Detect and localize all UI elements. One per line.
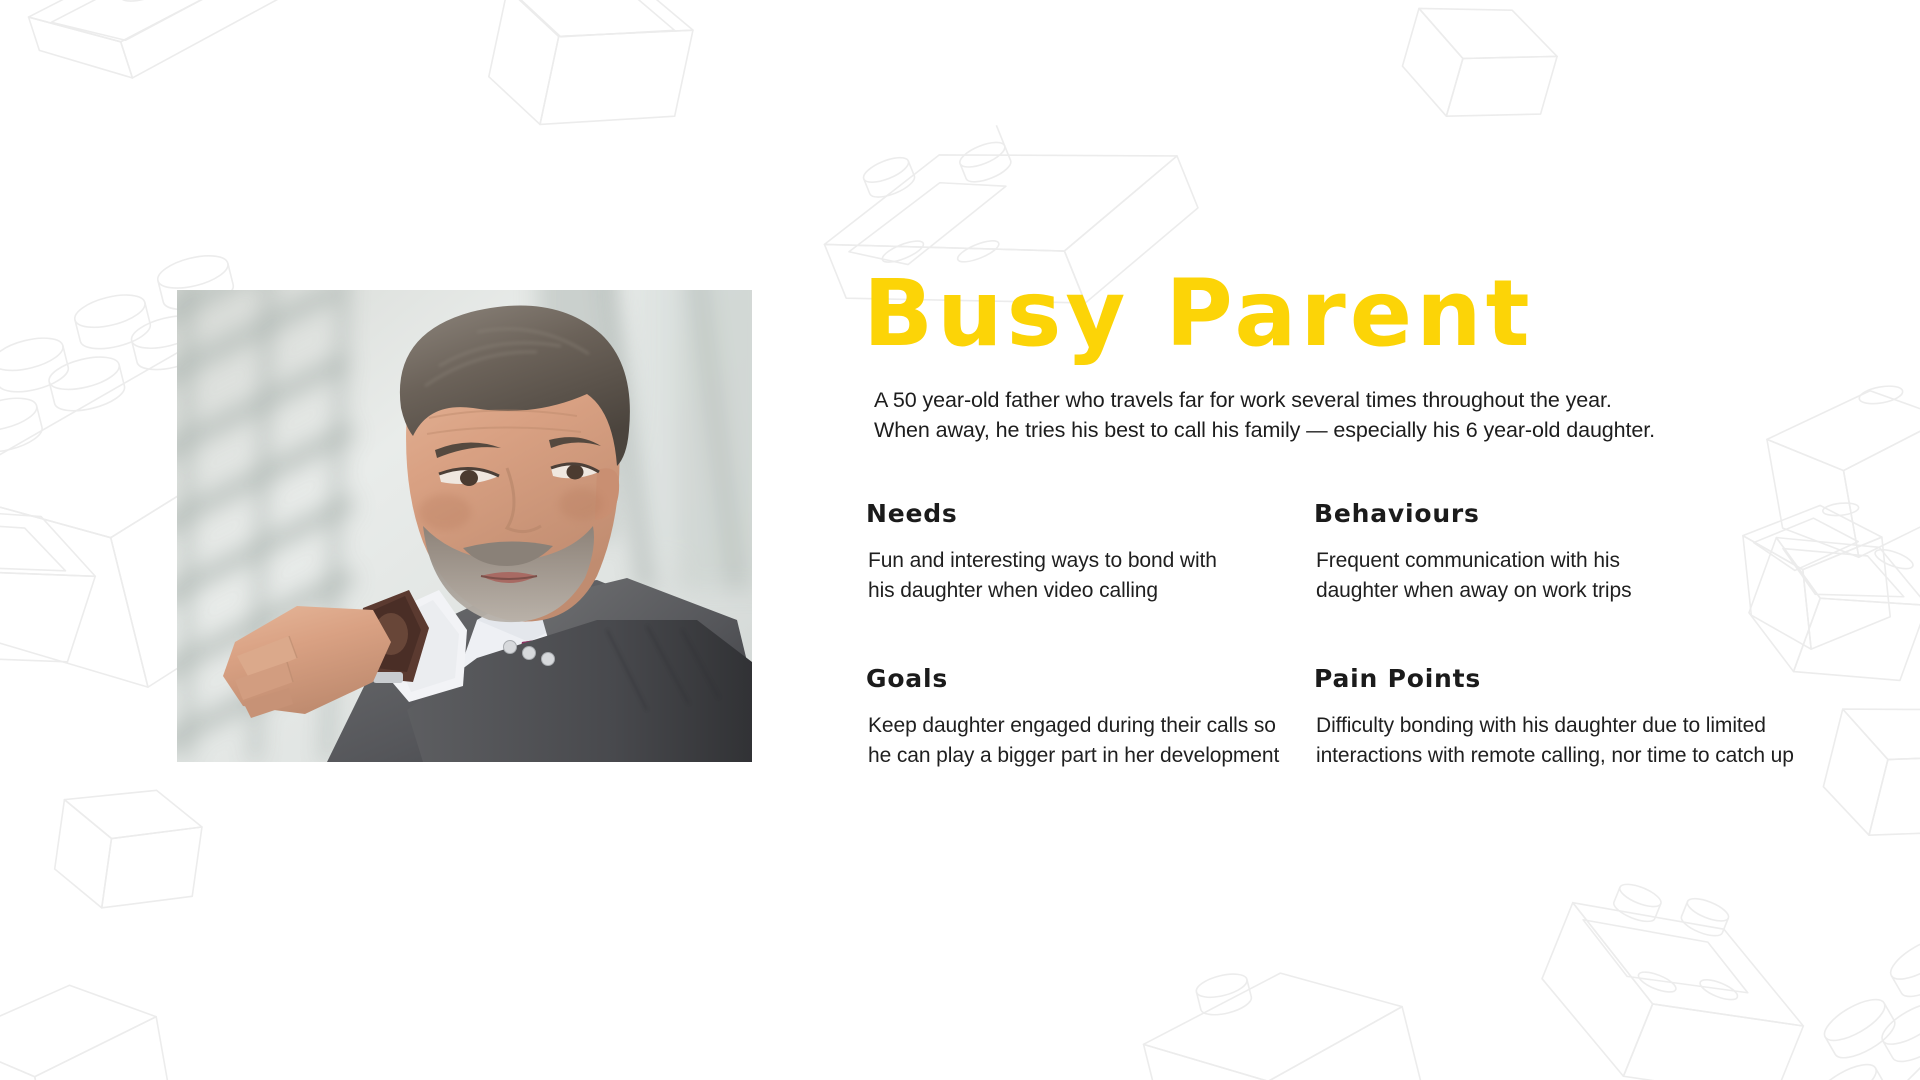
attribute-heading-pain-points: Pain Points	[1314, 664, 1814, 693]
persona-summary: A 50 year-old father who travels far for…	[874, 385, 1866, 445]
attribute-behaviours-line-1: Frequent communication with his	[1316, 546, 1814, 576]
attribute-block-pain-points: Pain Points Difficulty bonding with his …	[1314, 664, 1814, 771]
attribute-block-behaviours: Behaviours Frequent communication with h…	[1314, 499, 1814, 606]
attribute-goals-line-2: he can play a bigger part in her develop…	[868, 741, 1314, 771]
persona-title: Busy Parent	[863, 268, 1866, 360]
attribute-pain-points-line-2: interactions with remote calling, nor ti…	[1316, 741, 1814, 771]
attribute-goals-line-1: Keep daughter engaged during their calls…	[868, 711, 1314, 741]
persona-photo	[177, 290, 752, 762]
persona-summary-line-1: A 50 year-old father who travels far for…	[874, 385, 1866, 415]
attribute-heading-needs: Needs	[866, 499, 1314, 528]
persona-content: Busy Parent A 50 year-old father who tra…	[866, 268, 1866, 771]
attribute-needs-line-1: Fun and interesting ways to bond with	[868, 546, 1314, 576]
attribute-block-needs: Needs Fun and interesting ways to bond w…	[866, 499, 1314, 606]
persona-attribute-grid: Needs Fun and interesting ways to bond w…	[866, 499, 1866, 771]
attribute-block-goals: Goals Keep daughter engaged during their…	[866, 664, 1314, 771]
attribute-pain-points-line-1: Difficulty bonding with his daughter due…	[1316, 711, 1814, 741]
attribute-body-goals: Keep daughter engaged during their calls…	[868, 711, 1314, 771]
attribute-body-behaviours: Frequent communication with his daughter…	[1316, 546, 1814, 606]
persona-slide: Busy Parent A 50 year-old father who tra…	[0, 0, 1920, 1080]
persona-summary-line-2: When away, he tries his best to call his…	[874, 415, 1866, 445]
attribute-heading-goals: Goals	[866, 664, 1314, 693]
attribute-heading-behaviours: Behaviours	[1314, 499, 1814, 528]
attribute-body-pain-points: Difficulty bonding with his daughter due…	[1316, 711, 1814, 771]
attribute-behaviours-line-2: daughter when away on work trips	[1316, 576, 1814, 606]
attribute-body-needs: Fun and interesting ways to bond with hi…	[868, 546, 1314, 606]
attribute-needs-line-2: his daughter when video calling	[868, 576, 1314, 606]
